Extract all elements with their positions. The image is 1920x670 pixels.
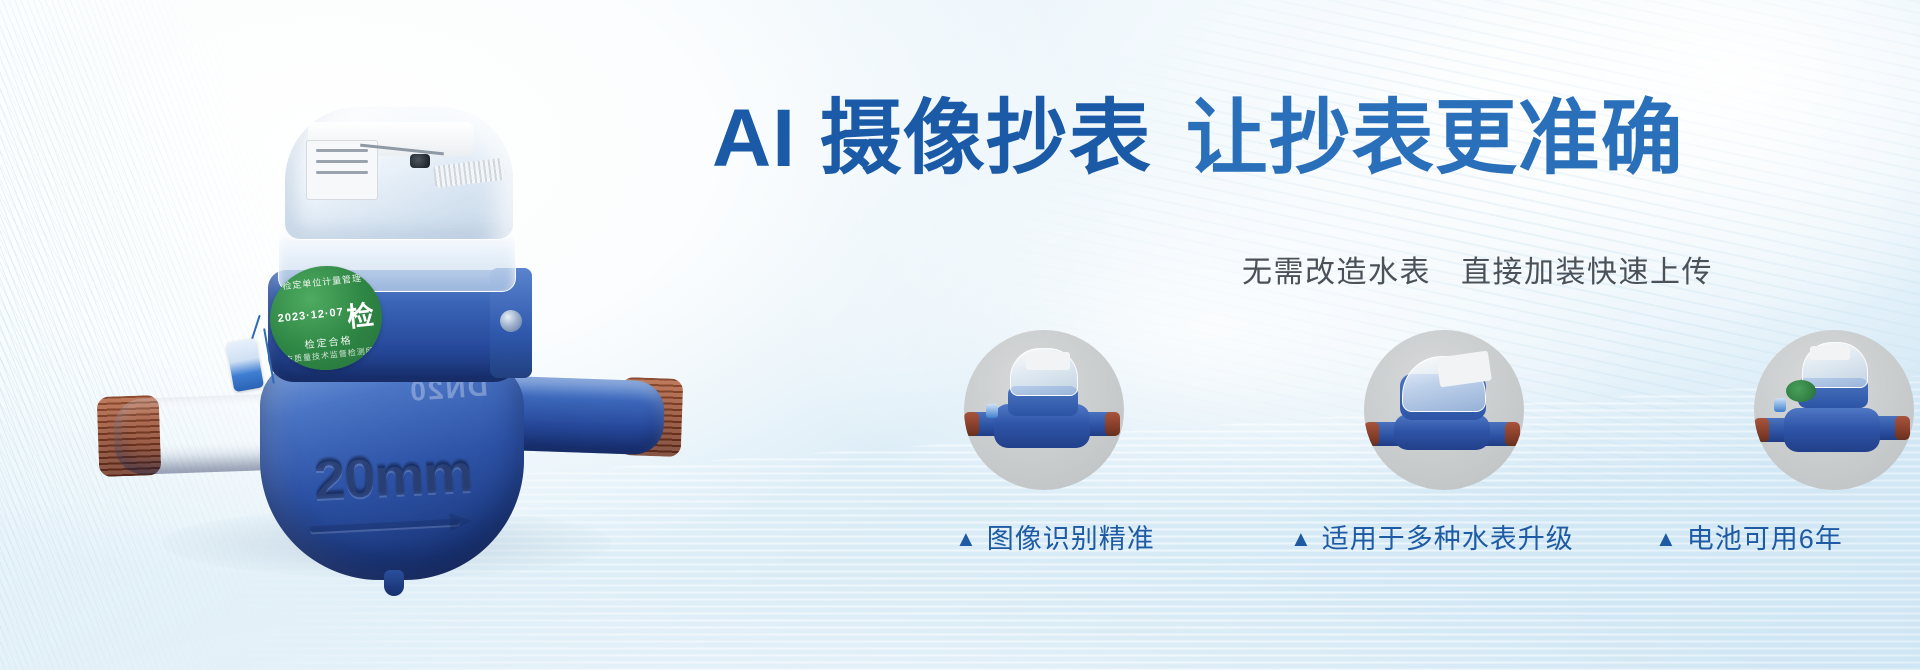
feature-item-2: ▲适用于多种水表升级 <box>1290 517 1574 556</box>
triangle-bullet-icon: ▲ <box>1655 526 1678 552</box>
security-seal-tag <box>226 338 264 392</box>
thumbnail-meter-2[interactable] <box>1364 330 1524 490</box>
thumbnail-meter-1[interactable] <box>964 330 1124 490</box>
feature-label-1: 图像识别精准 <box>987 524 1155 554</box>
subheadline-part-2: 直接加装快速上传 <box>1461 256 1713 289</box>
feature-item-1: ▲图像识别精准 <box>955 517 1155 556</box>
camera-lens-icon <box>410 154 430 168</box>
thumbnail-row <box>940 330 1880 510</box>
triangle-bullet-icon: ▲ <box>1290 526 1313 552</box>
drain-plug <box>384 570 404 596</box>
headline-secondary: 让抄表更准确 <box>1186 93 1684 184</box>
feature-label-2: 适用于多种水表升级 <box>1322 524 1574 554</box>
mini-meter-illustration-1 <box>964 330 1124 490</box>
feature-label-3: 电池可用6年 <box>1687 524 1843 554</box>
meter-size-marking: 20mm <box>287 441 500 512</box>
mini-meter-illustration-2 <box>1364 330 1524 490</box>
camera-module-label <box>306 140 378 200</box>
sticker-date: 2023·12·07 <box>277 306 344 325</box>
mini-meter-illustration-3 <box>1754 330 1914 490</box>
promo-banner: DN20 20mm 检定单位计量管理 2023·12·07 检 检定合格 市质量… <box>0 0 1920 670</box>
headline-primary: AI 摄像抄表 <box>712 93 1152 184</box>
subheadline-part-1: 无需改造水表 <box>1242 256 1431 289</box>
hero-product-image: DN20 20mm 检定单位计量管理 2023·12·07 检 检定合格 市质量… <box>92 78 692 588</box>
banner-headline: AI 摄像抄表让抄表更准确 <box>712 96 1684 182</box>
bracket-screw-icon <box>500 310 522 332</box>
triangle-bullet-icon: ▲ <box>955 526 978 552</box>
banner-subheadline: 无需改造水表直接加装快速上传 <box>1242 247 1713 291</box>
thumbnail-meter-3[interactable] <box>1754 330 1914 490</box>
feature-item-3: ▲电池可用6年 <box>1655 517 1843 556</box>
